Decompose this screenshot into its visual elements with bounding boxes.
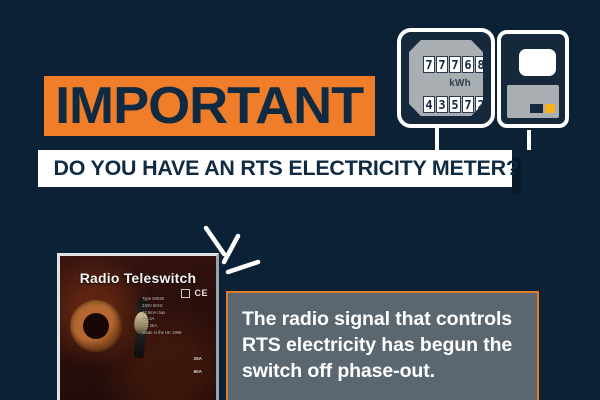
teleswitch-dial	[70, 300, 122, 352]
teleswitch-spec-text: Type 5002E 230V 50Hz 12.5mA max IoA 2A I…	[142, 296, 181, 337]
digit: 8	[475, 56, 487, 73]
smart-meter-indicator-dark	[530, 104, 543, 113]
smart-meter-base-panel	[507, 85, 559, 118]
digit: 6	[462, 56, 474, 73]
digit: 7	[462, 96, 474, 113]
meter-faceplate: 7 7 7 6 8 kWh 4 3 5 7 2	[409, 40, 483, 116]
rating-label-top: 25A	[194, 356, 202, 361]
smart-meter-indicator-amber	[545, 104, 555, 113]
page-title: IMPORTANT	[55, 80, 363, 132]
smart-meter-icon	[497, 30, 569, 128]
radio-teleswitch-photo: Radio Teleswitch Type 5002E 230V 50Hz 12…	[57, 253, 219, 400]
spec-line: Made in the UK 1999	[142, 330, 181, 337]
meter-bottom-reading: 4 3 5 7 2	[423, 96, 487, 113]
digit: 2	[475, 96, 487, 113]
digit: 5	[449, 96, 461, 113]
subtitle-label: DO YOU HAVE AN RTS ELECTRICITY METER?	[53, 157, 518, 181]
spec-line: 230V 50Hz	[142, 303, 181, 310]
ce-mark-icon: CE	[194, 288, 208, 298]
smart-meter-screen	[519, 49, 556, 76]
digit: 7	[436, 56, 448, 73]
callout-text: The radio signal that controls RTS elect…	[242, 307, 519, 385]
subtitle-bar: DO YOU HAVE AN RTS ELECTRICITY METER?	[38, 150, 512, 187]
dial-meter-icon: 7 7 7 6 8 kWh 4 3 5 7 2	[397, 28, 495, 128]
rating-label-bottom: 60A	[194, 369, 202, 374]
digit: 3	[436, 96, 448, 113]
important-banner: IMPORTANT	[44, 76, 375, 136]
certification-marks: CE	[181, 288, 208, 298]
spec-line: IoC 25A.	[142, 323, 181, 330]
phase-out-callout: The radio signal that controls RTS elect…	[226, 291, 539, 400]
infographic-canvas: 7 7 7 6 8 kWh 4 3 5 7 2 IMPORTANT	[0, 0, 600, 400]
meter-top-reading: 7 7 7 6 8	[423, 56, 487, 73]
photo-title-label: Radio Teleswitch	[60, 270, 216, 286]
digit: 7	[423, 56, 435, 73]
double-insulated-icon	[181, 289, 190, 298]
spec-line: Type 5002E	[142, 296, 181, 303]
kwh-unit-label: kWh	[449, 78, 471, 89]
digit: 4	[423, 96, 435, 113]
digit: 7	[449, 56, 461, 73]
